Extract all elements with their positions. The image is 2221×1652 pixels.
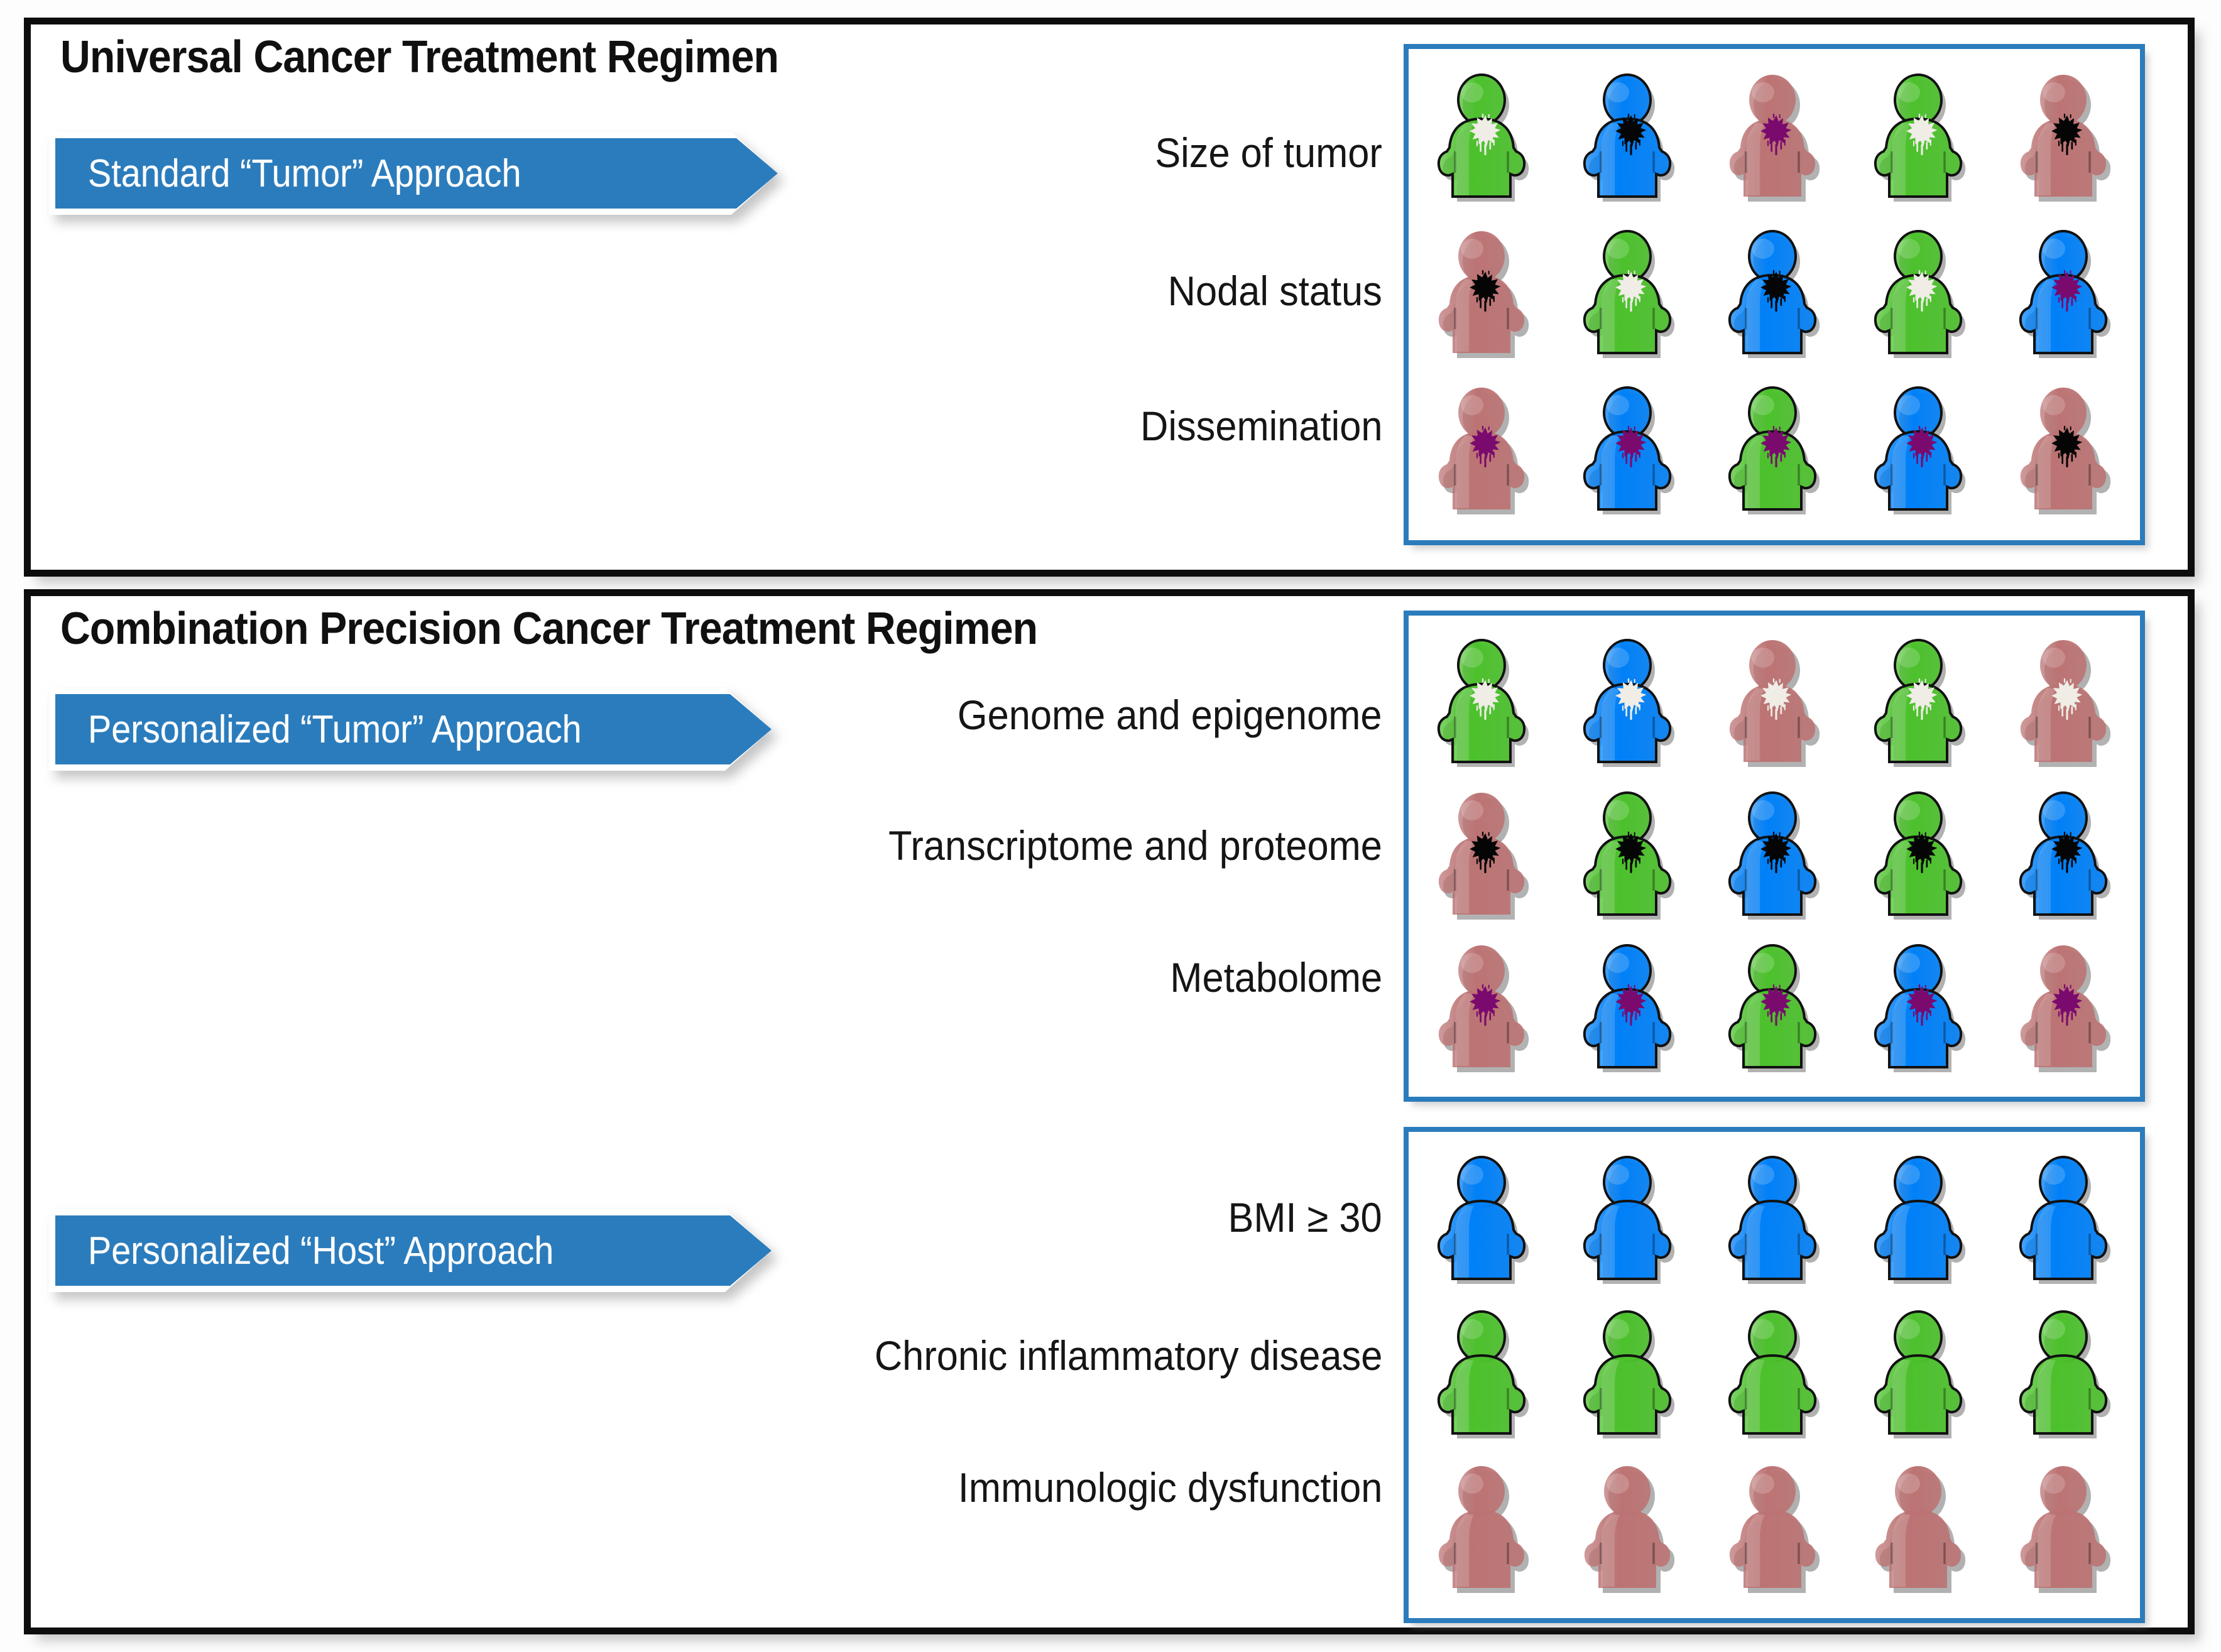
people-row xyxy=(1430,638,2119,769)
person-icon xyxy=(1867,72,1973,204)
person-icon xyxy=(2012,943,2119,1075)
personalized-tumor-approach-banner[interactable]: Personalized “Tumor” Approach xyxy=(49,688,772,771)
person-icon xyxy=(2012,72,2119,204)
row-label-bmi: BMI ≥ 30 xyxy=(1228,1193,1382,1241)
banner-outline: Standard “Tumor” Approach xyxy=(49,132,778,215)
banner-outline: Personalized “Tumor” Approach xyxy=(49,688,772,771)
person-icon xyxy=(1867,1464,1973,1595)
person-icon xyxy=(1576,1464,1683,1595)
person-icon xyxy=(1430,943,1537,1075)
banner-outline: Personalized “Host” Approach xyxy=(49,1209,772,1292)
personalized-host-approach-banner[interactable]: Personalized “Host” Approach xyxy=(49,1209,772,1292)
person-icon xyxy=(2012,1155,2119,1286)
person-icon xyxy=(1430,72,1537,204)
person-icon xyxy=(1430,229,1537,361)
person-icon xyxy=(1867,1155,1973,1286)
banner-label: Personalized “Host” Approach xyxy=(88,1229,554,1273)
person-icon xyxy=(2012,790,2119,922)
combination-section-title: Combination Precision Cancer Treatment R… xyxy=(60,603,1037,655)
person-icon xyxy=(1721,1464,1828,1595)
person-icon xyxy=(1867,790,1973,922)
standard-tumor-approach-banner[interactable]: Standard “Tumor” Approach xyxy=(49,132,778,215)
universal-people-panel xyxy=(1404,44,2145,545)
people-row xyxy=(1430,229,2119,361)
universal-section-title: Universal Cancer Treatment Regimen xyxy=(60,31,778,83)
person-icon xyxy=(1721,1155,1828,1286)
people-row xyxy=(1430,72,2119,204)
banner-fill: Personalized “Tumor” Approach xyxy=(55,694,772,764)
person-icon xyxy=(1430,1464,1537,1595)
row-label-size-of-tumor: Size of tumor xyxy=(1155,129,1382,177)
tumor-people-panel xyxy=(1404,611,2145,1102)
banner-fill: Personalized “Host” Approach xyxy=(55,1215,772,1286)
person-icon xyxy=(1576,1309,1683,1441)
person-icon xyxy=(1430,1155,1537,1286)
person-icon xyxy=(1430,638,1537,769)
person-icon xyxy=(1430,790,1537,922)
people-row xyxy=(1430,385,2119,517)
people-grid xyxy=(1409,1132,2140,1618)
person-icon xyxy=(1867,229,1973,361)
people-row xyxy=(1430,790,2119,922)
people-row xyxy=(1430,1309,2119,1441)
person-icon xyxy=(1430,1309,1537,1441)
people-row xyxy=(1430,1155,2119,1286)
person-icon xyxy=(1576,790,1683,922)
person-icon xyxy=(1721,943,1828,1075)
person-icon xyxy=(1867,1309,1973,1441)
person-icon xyxy=(2012,1309,2119,1441)
people-row xyxy=(1430,943,2119,1075)
person-icon xyxy=(2012,385,2119,517)
row-label-immunologic-dysfunction: Immunologic dysfunction xyxy=(958,1464,1382,1511)
host-people-panel xyxy=(1404,1127,2145,1623)
row-label-transcriptome-and-proteome: Transcriptome and proteome xyxy=(888,822,1382,869)
person-icon xyxy=(1721,229,1828,361)
row-label-genome-and-epigenome: Genome and epigenome xyxy=(958,691,1382,739)
person-icon xyxy=(1576,1155,1683,1286)
banner-label: Personalized “Tumor” Approach xyxy=(88,707,582,752)
person-icon xyxy=(1721,638,1828,769)
row-label-metabolome: Metabolome xyxy=(1170,954,1382,1001)
person-icon xyxy=(1576,229,1683,361)
people-grid xyxy=(1409,49,2140,540)
person-icon xyxy=(1867,638,1973,769)
person-icon xyxy=(1576,72,1683,204)
people-grid xyxy=(1409,616,2140,1097)
person-icon xyxy=(1867,943,1973,1075)
person-icon xyxy=(2012,638,2119,769)
person-icon xyxy=(1867,385,1973,517)
person-icon xyxy=(2012,1464,2119,1595)
banner-fill: Standard “Tumor” Approach xyxy=(55,138,778,209)
person-icon xyxy=(1721,1309,1828,1441)
person-icon xyxy=(1721,790,1828,922)
person-icon xyxy=(1721,385,1828,517)
row-label-chronic-inflammatory: Chronic inflammatory disease xyxy=(875,1332,1382,1379)
row-label-nodal-status: Nodal status xyxy=(1168,267,1382,315)
row-label-dissemination: Dissemination xyxy=(1140,402,1382,450)
person-icon xyxy=(1430,385,1537,517)
person-icon xyxy=(1576,638,1683,769)
person-icon xyxy=(1576,943,1683,1075)
banner-label: Standard “Tumor” Approach xyxy=(88,151,521,196)
person-icon xyxy=(2012,229,2119,361)
person-icon xyxy=(1721,72,1828,204)
people-row xyxy=(1430,1464,2119,1595)
person-icon xyxy=(1576,385,1683,517)
